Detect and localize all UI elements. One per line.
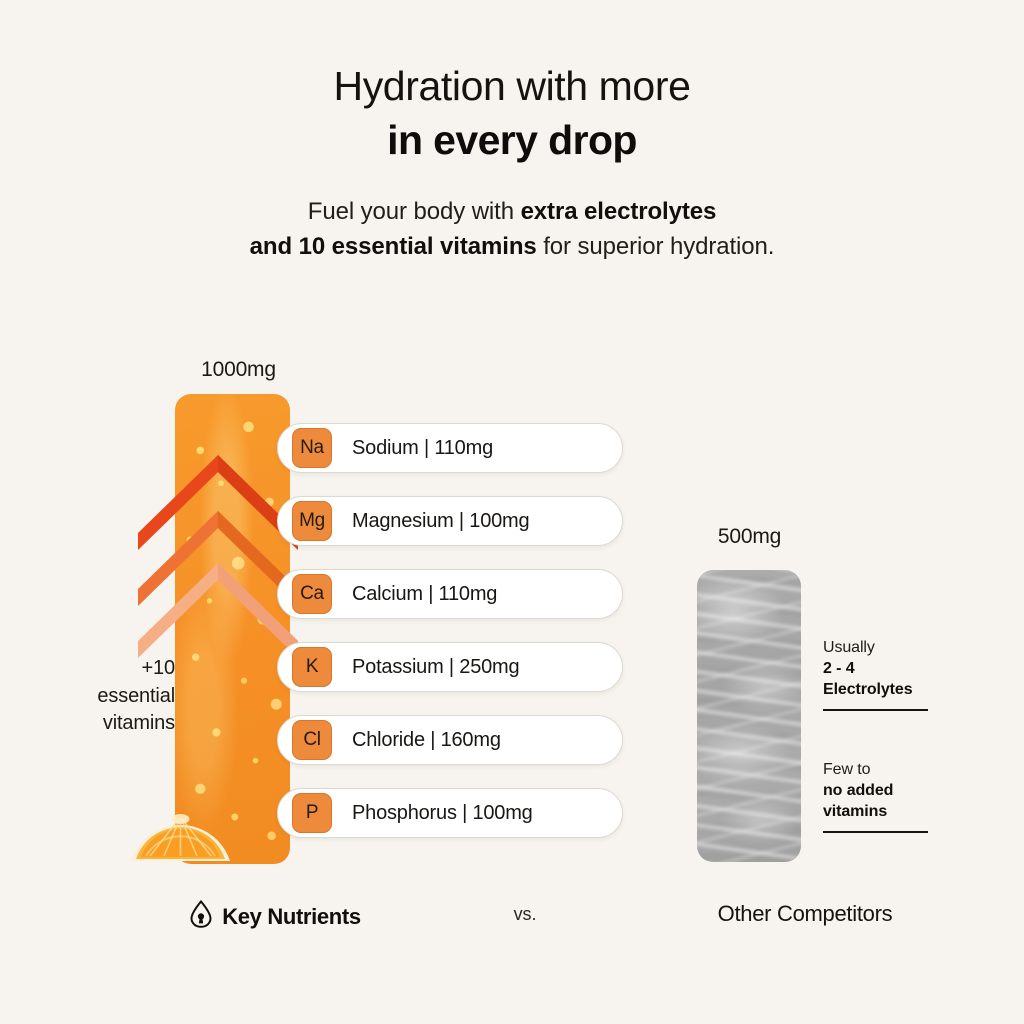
element-badge-ca: Ca: [292, 574, 332, 614]
subheadline-bold-2: and 10 essential vitamins: [250, 233, 537, 260]
vitamins-callout-line-3: vitamins: [45, 710, 175, 738]
element-badge-na: Na: [292, 428, 332, 468]
nutrient-label-magnesium: Magnesium | 100mg: [352, 510, 529, 533]
competitors-bar: [697, 570, 801, 862]
element-badge-p: P: [292, 793, 332, 833]
subheadline-text-1: Fuel your body with: [308, 198, 521, 225]
element-badge-cl: Cl: [292, 720, 332, 760]
subheadline: Fuel your body with extra electrolytes a…: [0, 195, 1024, 265]
competitors-note-2-light: Few to: [823, 760, 931, 781]
competitors-footer-label: Other Competitors: [640, 901, 970, 927]
subheadline-bold-1: extra electrolytes: [521, 198, 717, 225]
upward-chevrons-icon: [138, 455, 298, 655]
divider-rule-1: [823, 709, 928, 711]
infographic-canvas: Hydration with more in every drop Fuel y…: [0, 0, 1024, 1024]
vitamins-callout-line-1: +10: [45, 655, 175, 683]
versus-label: vs.: [455, 904, 595, 925]
competitors-note-vitamins: Few to no added vitamins: [823, 760, 931, 833]
nutrient-pill-phosphorus[interactable]: P Phosphorus | 100mg: [277, 788, 623, 838]
competitors-amount-label: 500mg: [697, 525, 802, 549]
competitors-note-1-bold-a: 2 - 4: [823, 659, 931, 680]
nutrient-pill-calcium[interactable]: Ca Calcium | 110mg: [277, 569, 623, 619]
competitors-note-1-bold-b: Electrolytes: [823, 680, 931, 701]
nutrient-label-phosphorus: Phosphorus | 100mg: [352, 802, 533, 825]
subheadline-text-2: for superior hydration.: [537, 233, 775, 260]
competitors-note-2-bold-b: vitamins: [823, 802, 931, 823]
water-drop-key-icon: [189, 900, 213, 933]
element-badge-mg: Mg: [292, 501, 332, 541]
nutrient-label-potassium: Potassium | 250mg: [352, 656, 519, 679]
competitors-note-electrolytes: Usually 2 - 4 Electrolytes: [823, 638, 931, 711]
key-nutrients-amount-label: 1000mg: [176, 358, 301, 382]
key-nutrients-footer: Key Nutrients: [120, 900, 430, 933]
headline-line-1: Hydration with more: [0, 62, 1024, 110]
nutrient-pill-magnesium[interactable]: Mg Magnesium | 100mg: [277, 496, 623, 546]
competitors-note-1-light: Usually: [823, 638, 931, 659]
nutrient-pill-chloride[interactable]: Cl Chloride | 160mg: [277, 715, 623, 765]
header-block: Hydration with more in every drop Fuel y…: [0, 0, 1024, 264]
nutrient-pill-potassium[interactable]: K Potassium | 250mg: [277, 642, 623, 692]
element-badge-k: K: [292, 647, 332, 687]
vitamins-callout: +10 essential vitamins: [45, 655, 175, 738]
vitamins-callout-line-2: essential: [45, 683, 175, 711]
key-nutrients-footer-label: Key Nutrients: [222, 904, 360, 930]
nutrient-pill-sodium[interactable]: Na Sodium | 110mg: [277, 423, 623, 473]
headline-line-2: in every drop: [0, 116, 1024, 164]
nutrient-label-chloride: Chloride | 160mg: [352, 729, 501, 752]
divider-rule-2: [823, 831, 928, 833]
nutrient-label-calcium: Calcium | 110mg: [352, 583, 497, 606]
orange-slice-icon: [128, 795, 233, 867]
nutrient-label-sodium: Sodium | 110mg: [352, 437, 493, 460]
competitors-note-2-bold-a: no added: [823, 781, 931, 802]
